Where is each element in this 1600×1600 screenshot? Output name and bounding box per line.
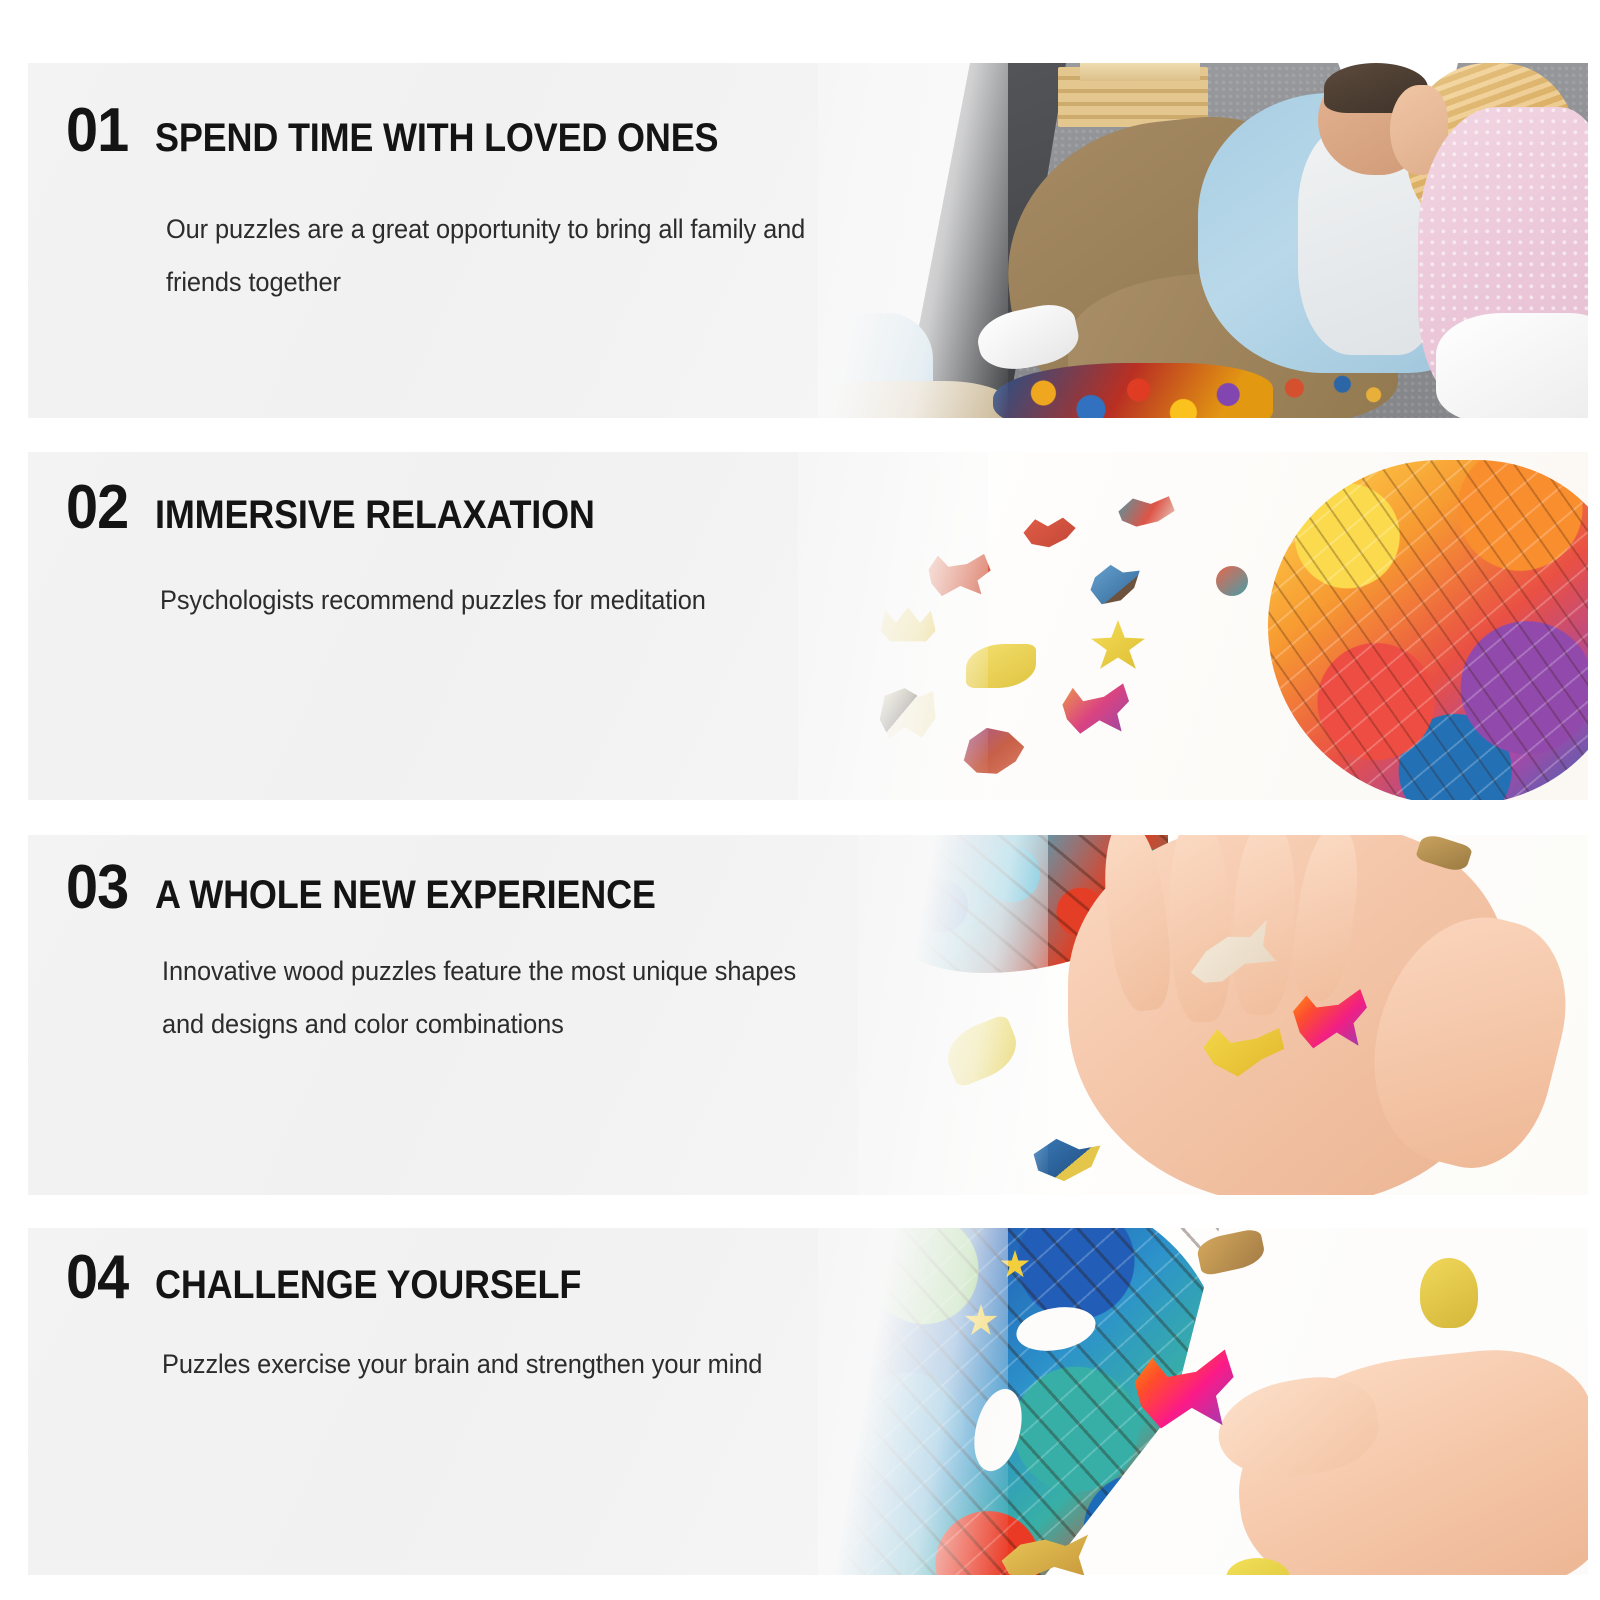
- finger-touching-cat-puzzle-piece-photo: [818, 1228, 1588, 1575]
- family-on-carpet-with-puzzle-photo: [818, 63, 1588, 418]
- scattered-animal-puzzle-pieces-photo: [798, 452, 1588, 800]
- feature-3-text: 03 A WHOLE NEW EXPERIENCE Innovative woo…: [38, 835, 858, 1195]
- feature-2-body: Psychologists recommend puzzles for medi…: [160, 574, 706, 627]
- loose-puzzle-pieces: [1268, 365, 1388, 413]
- feature-4-heading-row: 04 CHALLENGE YOURSELF: [66, 1250, 628, 1306]
- feature-card-1: 01 SPEND TIME WITH LOVED ONES Our puzzle…: [28, 63, 1588, 418]
- piece-red-chip: [1216, 566, 1248, 596]
- feature-1-number: 01: [66, 103, 128, 159]
- feature-card-4: 04 CHALLENGE YOURSELF Puzzles exercise y…: [28, 1228, 1588, 1575]
- feature-3-number: 03: [66, 860, 128, 916]
- feature-4-body: Puzzles exercise your brain and strength…: [162, 1338, 762, 1391]
- feature-1-text: 01 SPEND TIME WITH LOVED ONES Our puzzle…: [38, 63, 858, 418]
- hand-holding-puzzle-pieces-photo: [858, 835, 1588, 1195]
- feature-4-text: 04 CHALLENGE YOURSELF Puzzles exercise y…: [38, 1228, 858, 1575]
- feature-list-page: 01 SPEND TIME WITH LOVED ONES Our puzzle…: [0, 0, 1600, 1600]
- feature-1-heading-row: 01 SPEND TIME WITH LOVED ONES: [66, 103, 781, 159]
- feature-card-2: 02 IMMERSIVE RELAXATION Psychologists re…: [28, 452, 1588, 800]
- feature-2-number: 02: [66, 480, 128, 536]
- feature-3-body: Innovative wood puzzles feature the most…: [162, 945, 816, 1050]
- feature-2-text: 02 IMMERSIVE RELAXATION Psychologists re…: [38, 452, 858, 800]
- feature-3-heading-row: 03 A WHOLE NEW EXPERIENCE: [66, 860, 711, 916]
- feature-2-heading-row: 02 IMMERSIVE RELAXATION: [66, 480, 644, 536]
- feature-card-3: 03 A WHOLE NEW EXPERIENCE Innovative woo…: [28, 835, 1588, 1195]
- pallet-top-shape: [1080, 63, 1200, 81]
- feature-3-title: A WHOLE NEW EXPERIENCE: [155, 875, 656, 915]
- woman-white-trousers-shape: [1436, 313, 1588, 418]
- photo-left-fade: [858, 835, 1048, 1195]
- feature-2-title: IMMERSIVE RELAXATION: [155, 495, 595, 535]
- feature-1-body: Our puzzles are a great opportunity to b…: [166, 203, 816, 308]
- piece-yellow-leaf: [1420, 1258, 1478, 1328]
- feature-4-title: CHALLENGE YOURSELF: [155, 1265, 581, 1305]
- feature-1-title: SPEND TIME WITH LOVED ONES: [155, 118, 718, 158]
- feature-4-number: 04: [66, 1250, 128, 1306]
